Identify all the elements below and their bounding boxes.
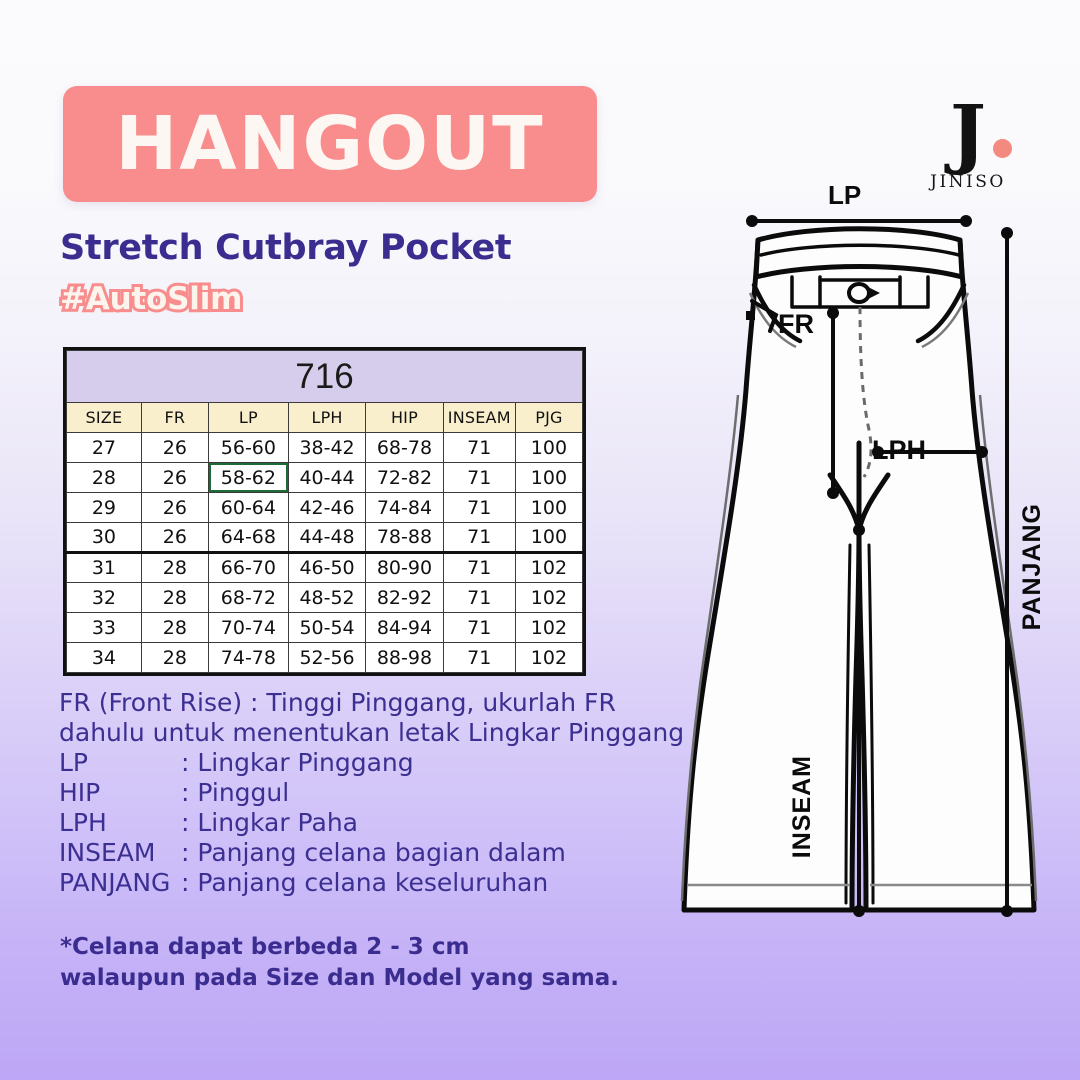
fr-start-dot xyxy=(827,307,839,319)
cell-fr: 26 xyxy=(141,493,208,523)
model-number: 716 xyxy=(67,351,583,403)
cell-lph: 48-52 xyxy=(288,583,365,613)
legend-value: : Panjang celana keseluruhan xyxy=(181,868,548,898)
title-badge: HANGOUT xyxy=(63,86,597,202)
legend-key: PANJANG xyxy=(59,868,181,898)
table-row: 31 28 66-70 46-50 80-90 71 102 xyxy=(67,553,583,583)
legend-fr-line-1: FR (Front Rise) : Tinggi Pinggang, ukurl… xyxy=(59,688,684,718)
cell-pjg: 100 xyxy=(515,463,582,493)
column-header-lph: LPH xyxy=(288,403,365,433)
legend-item-lph: LPH : Lingkar Paha xyxy=(59,808,684,838)
pants-illustration xyxy=(660,185,1080,945)
cell-fr: 28 xyxy=(141,643,208,673)
pants-measurement-diagram: LP FR LPH INSEAM PANJANG xyxy=(660,185,1080,945)
cell-hip: 72-82 xyxy=(366,463,443,493)
cell-lp: 70-74 xyxy=(208,613,288,643)
cell-size: 33 xyxy=(67,613,142,643)
table-header-row: SIZE FR LP LPH HIP INSEAM PJG xyxy=(67,403,583,433)
legend-item-panjang: PANJANG : Panjang celana keseluruhan xyxy=(59,868,684,898)
cell-size: 31 xyxy=(67,553,142,583)
cell-hip: 88-98 xyxy=(366,643,443,673)
cell-size: 28 xyxy=(67,463,142,493)
cell-lph: 52-56 xyxy=(288,643,365,673)
left-content-column: HANGOUT Stretch Cutbray Pocket #AutoSlim… xyxy=(0,0,700,1080)
legend-item-hip: HIP : Pinggul xyxy=(59,778,684,808)
lph-end-dot xyxy=(976,446,988,458)
logo-dot-icon xyxy=(993,139,1012,158)
cell-lp: 68-72 xyxy=(208,583,288,613)
cell-lp: 64-68 xyxy=(208,523,288,553)
dimension-label-lph: LPH xyxy=(872,435,926,466)
cell-hip: 68-78 xyxy=(366,433,443,463)
cell-fr: 28 xyxy=(141,613,208,643)
dimension-label-panjang: PANJANG xyxy=(1018,503,1047,630)
inseam-end-dot xyxy=(853,905,865,917)
cell-lp-highlighted: 58-62 xyxy=(208,463,288,493)
page-title: HANGOUT xyxy=(115,107,544,181)
legend-item-lp: LP : Lingkar Pinggang xyxy=(59,748,684,778)
footnote-line-2: walaupun pada Size dan Model yang sama. xyxy=(60,963,619,994)
cell-fr: 28 xyxy=(141,583,208,613)
cell-size: 34 xyxy=(67,643,142,673)
cell-fr: 26 xyxy=(141,463,208,493)
legend-key: LP xyxy=(59,748,181,778)
legend-value: : Lingkar Paha xyxy=(181,808,358,838)
cell-pjg: 102 xyxy=(515,553,582,583)
cell-lp: 60-64 xyxy=(208,493,288,523)
cell-lph: 40-44 xyxy=(288,463,365,493)
cell-inseam: 71 xyxy=(443,643,515,673)
column-header-size: SIZE xyxy=(67,403,142,433)
size-chart-table: 716 SIZE FR LP LPH HIP INSEAM PJG 27 26 … xyxy=(63,347,586,676)
column-header-fr: FR xyxy=(141,403,208,433)
cell-hip: 78-88 xyxy=(366,523,443,553)
legend-key: INSEAM xyxy=(59,838,181,868)
lp-start-dot xyxy=(746,215,758,227)
legend-key: LPH xyxy=(59,808,181,838)
cell-pjg: 102 xyxy=(515,613,582,643)
table-row: 28 26 58-62 40-44 72-82 71 100 xyxy=(67,463,583,493)
panjang-start-dot xyxy=(1001,227,1013,239)
table-model-row: 716 xyxy=(67,351,583,403)
cell-lph: 44-48 xyxy=(288,523,365,553)
cell-lp: 56-60 xyxy=(208,433,288,463)
cell-size: 29 xyxy=(67,493,142,523)
column-header-lp: LP xyxy=(208,403,288,433)
dimension-label-lp: LP xyxy=(828,180,861,211)
table-row: 27 26 56-60 38-42 68-78 71 100 xyxy=(67,433,583,463)
fr-end-dot xyxy=(827,487,839,499)
footnote-disclaimer: *Celana dapat berbeda 2 - 3 cm walaupun … xyxy=(60,932,619,994)
cell-hip: 84-94 xyxy=(366,613,443,643)
cell-size: 32 xyxy=(67,583,142,613)
column-header-inseam: INSEAM xyxy=(443,403,515,433)
dimension-label-fr: FR xyxy=(778,309,814,340)
cell-fr: 26 xyxy=(141,523,208,553)
brand-logo: J JINISO xyxy=(908,96,1028,192)
legend-fr-line-2: dahulu untuk menentukan letak Lingkar Pi… xyxy=(59,718,684,748)
legend-value: : Panjang celana bagian dalam xyxy=(181,838,566,868)
cell-inseam: 71 xyxy=(443,523,515,553)
cell-inseam: 71 xyxy=(443,463,515,493)
cell-size: 30 xyxy=(67,523,142,553)
measurement-legend: FR (Front Rise) : Tinggi Pinggang, ukurl… xyxy=(59,688,684,898)
cell-lph: 46-50 xyxy=(288,553,365,583)
table-row: 32 28 68-72 48-52 82-92 71 102 xyxy=(67,583,583,613)
cell-lph: 42-46 xyxy=(288,493,365,523)
lp-end-dot xyxy=(960,215,972,227)
cell-lp: 66-70 xyxy=(208,553,288,583)
dimension-label-inseam: INSEAM xyxy=(788,755,817,858)
cell-lp: 74-78 xyxy=(208,643,288,673)
cell-pjg: 102 xyxy=(515,643,582,673)
legend-key: HIP xyxy=(59,778,181,808)
legend-value: : Lingkar Pinggang xyxy=(181,748,414,778)
legend-value: : Pinggul xyxy=(181,778,289,808)
cell-pjg: 102 xyxy=(515,583,582,613)
column-header-hip: HIP xyxy=(366,403,443,433)
cell-inseam: 71 xyxy=(443,613,515,643)
cell-hip: 82-92 xyxy=(366,583,443,613)
logo-j-mark: J xyxy=(908,96,1028,170)
cell-lph: 50-54 xyxy=(288,613,365,643)
cell-inseam: 71 xyxy=(443,583,515,613)
cell-pjg: 100 xyxy=(515,523,582,553)
inseam-start-dot xyxy=(853,524,865,536)
column-header-pjg: PJG xyxy=(515,403,582,433)
table-row: 34 28 74-78 52-56 88-98 71 102 xyxy=(67,643,583,673)
cell-pjg: 100 xyxy=(515,433,582,463)
logo-letter: J xyxy=(950,88,986,177)
footnote-line-1: *Celana dapat berbeda 2 - 3 cm xyxy=(60,932,619,963)
cell-pjg: 100 xyxy=(515,493,582,523)
panjang-end-dot xyxy=(1001,905,1013,917)
cell-size: 27 xyxy=(67,433,142,463)
cell-inseam: 71 xyxy=(443,433,515,463)
table-row: 33 28 70-74 50-54 84-94 71 102 xyxy=(67,613,583,643)
cell-hip: 80-90 xyxy=(366,553,443,583)
table-row: 29 26 60-64 42-46 74-84 71 100 xyxy=(67,493,583,523)
cell-lph: 38-42 xyxy=(288,433,365,463)
table-row: 30 26 64-68 44-48 78-88 71 100 xyxy=(67,523,583,553)
legend-item-inseam: INSEAM : Panjang celana bagian dalam xyxy=(59,838,684,868)
hashtag-autoslim: #AutoSlim xyxy=(60,281,242,317)
cell-inseam: 71 xyxy=(443,553,515,583)
product-subtitle: Stretch Cutbray Pocket xyxy=(60,228,511,268)
cell-fr: 26 xyxy=(141,433,208,463)
cell-fr: 28 xyxy=(141,553,208,583)
cell-inseam: 71 xyxy=(443,493,515,523)
cell-hip: 74-84 xyxy=(366,493,443,523)
